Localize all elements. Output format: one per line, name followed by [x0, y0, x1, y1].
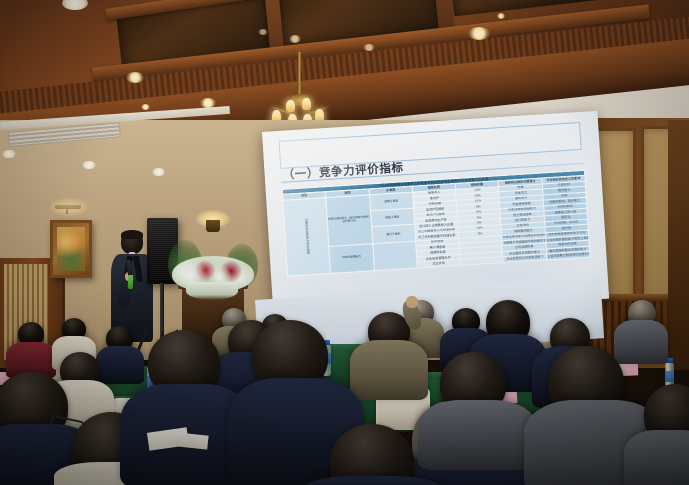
audience-body-mid-3: [350, 340, 428, 400]
audience-body-far-8: [614, 320, 668, 364]
microphone-grip-light: [128, 275, 133, 289]
far-right-wall: [668, 120, 689, 370]
bottle-label-5: [665, 371, 674, 382]
audience-body-near-9: [306, 476, 440, 485]
cell-criteria: 规模与赢利能力（含发展潜力指标）总权重70%: [326, 195, 372, 246]
painting-artwork: [57, 227, 85, 271]
downlight-4: [141, 104, 150, 110]
wall-downlight-left-2: [82, 161, 96, 169]
presenter-hair-front: [121, 230, 143, 239]
downlight-ceiling-spot: [363, 44, 375, 51]
picture-light-glow: [50, 198, 88, 216]
chandelier-rod: [298, 52, 301, 96]
wall-painting: [50, 220, 92, 278]
audience-body-near-8: [624, 430, 689, 485]
wall-downlight-left-3: [152, 168, 165, 176]
chandelier-candle-2: [302, 98, 311, 110]
downlight-6: [497, 13, 505, 19]
slide-data-table: 2018年光通信企业竞争力评价体系构成的指标权重和其反映的意义及价值 目标 准则…: [282, 170, 591, 277]
audience-raised-hand: [406, 296, 418, 308]
downlight-8: [258, 29, 268, 35]
downlight-5: [468, 27, 490, 40]
wall-downlight-left-1: [2, 150, 16, 158]
audience-body-near-6: [418, 400, 536, 470]
downlight-2: [126, 72, 144, 83]
cell-subcriteria: [372, 241, 417, 271]
cell-criteria: 可持续发展能力: [329, 243, 374, 273]
downlight-7: [289, 35, 301, 43]
conference-room-photo: （一）竞争力评价指标 2018年光通信企业竞争力评价体系构成的指标权重和其反映的…: [0, 0, 689, 485]
audience-body-far-3: [96, 346, 144, 384]
cell-goal: 光通信企业竞争力评价指标: [283, 197, 331, 275]
wall-sconce-body: [206, 220, 220, 232]
floral-drape: [186, 282, 238, 300]
chandelier-candle-1: [286, 100, 295, 112]
